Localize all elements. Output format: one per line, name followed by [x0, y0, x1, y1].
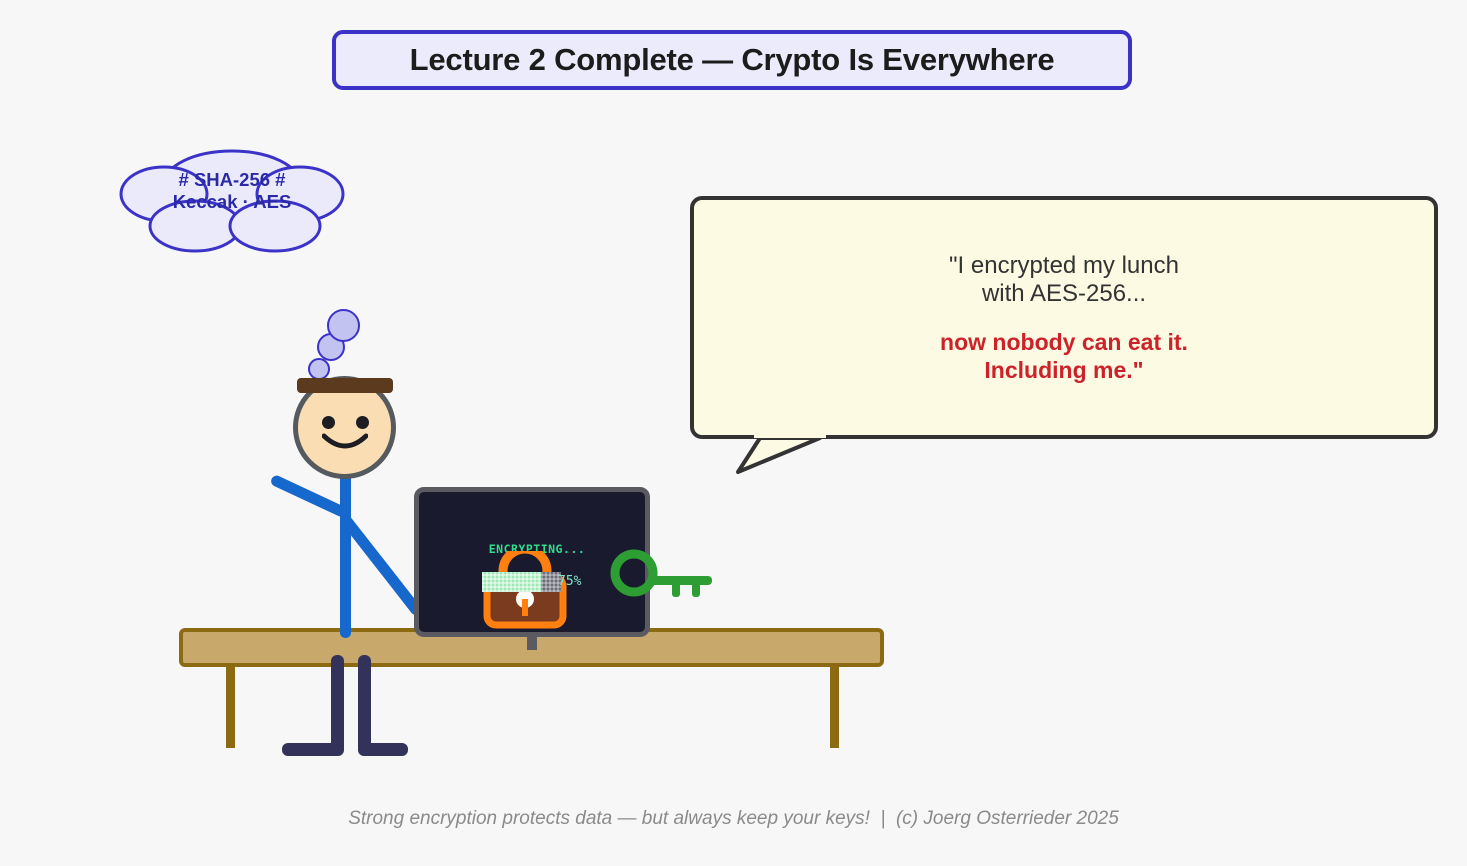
key-icon [608, 548, 720, 604]
speech-punchline-1: now nobody can eat it. [940, 328, 1188, 356]
figure-torso [340, 468, 351, 638]
speech-punchline-2: Including me." [984, 356, 1143, 384]
thought-bubble-large [327, 309, 360, 342]
page-title: Lecture 2 Complete — Crypto Is Everywher… [410, 42, 1055, 78]
speech-bubble-tail [720, 430, 840, 480]
figure-arm-left [269, 474, 348, 519]
figure-foot-left [282, 743, 344, 756]
thought-cloud-line-2: Keccak · AES [112, 191, 352, 213]
encryption-progress-label: 75% [558, 574, 581, 589]
desk-leg-right [830, 660, 839, 748]
figure-foot-right [358, 743, 408, 756]
slide-canvas: Lecture 2 Complete — Crypto Is Everywher… [0, 0, 1467, 866]
figure-eye-left [322, 416, 335, 429]
figure-arm-right [340, 514, 424, 617]
encryption-progress-fill [482, 572, 541, 592]
thought-cloud-line-1: # SHA-256 # [112, 169, 352, 191]
speech-bubble: "I encrypted my lunch with AES-256... no… [690, 196, 1438, 439]
figure-hair [297, 378, 393, 393]
figure-leg-right [358, 655, 371, 755]
encryption-progress-track [482, 572, 561, 592]
speech-line-2: with AES-256... [982, 280, 1146, 308]
thought-bubble-small [308, 358, 330, 380]
footer-caption: Strong encryption protects data — but al… [0, 808, 1467, 830]
title-banner: Lecture 2 Complete — Crypto Is Everywher… [332, 30, 1132, 90]
figure-eye-right [356, 416, 369, 429]
laptop-stand [527, 636, 537, 650]
thought-cloud: # SHA-256 # Keccak · AES [112, 144, 352, 256]
desk-leg-left [226, 660, 235, 748]
figure-leg-left [331, 655, 344, 755]
speech-line-1: "I encrypted my lunch [949, 252, 1179, 280]
figure-smile [322, 432, 368, 456]
